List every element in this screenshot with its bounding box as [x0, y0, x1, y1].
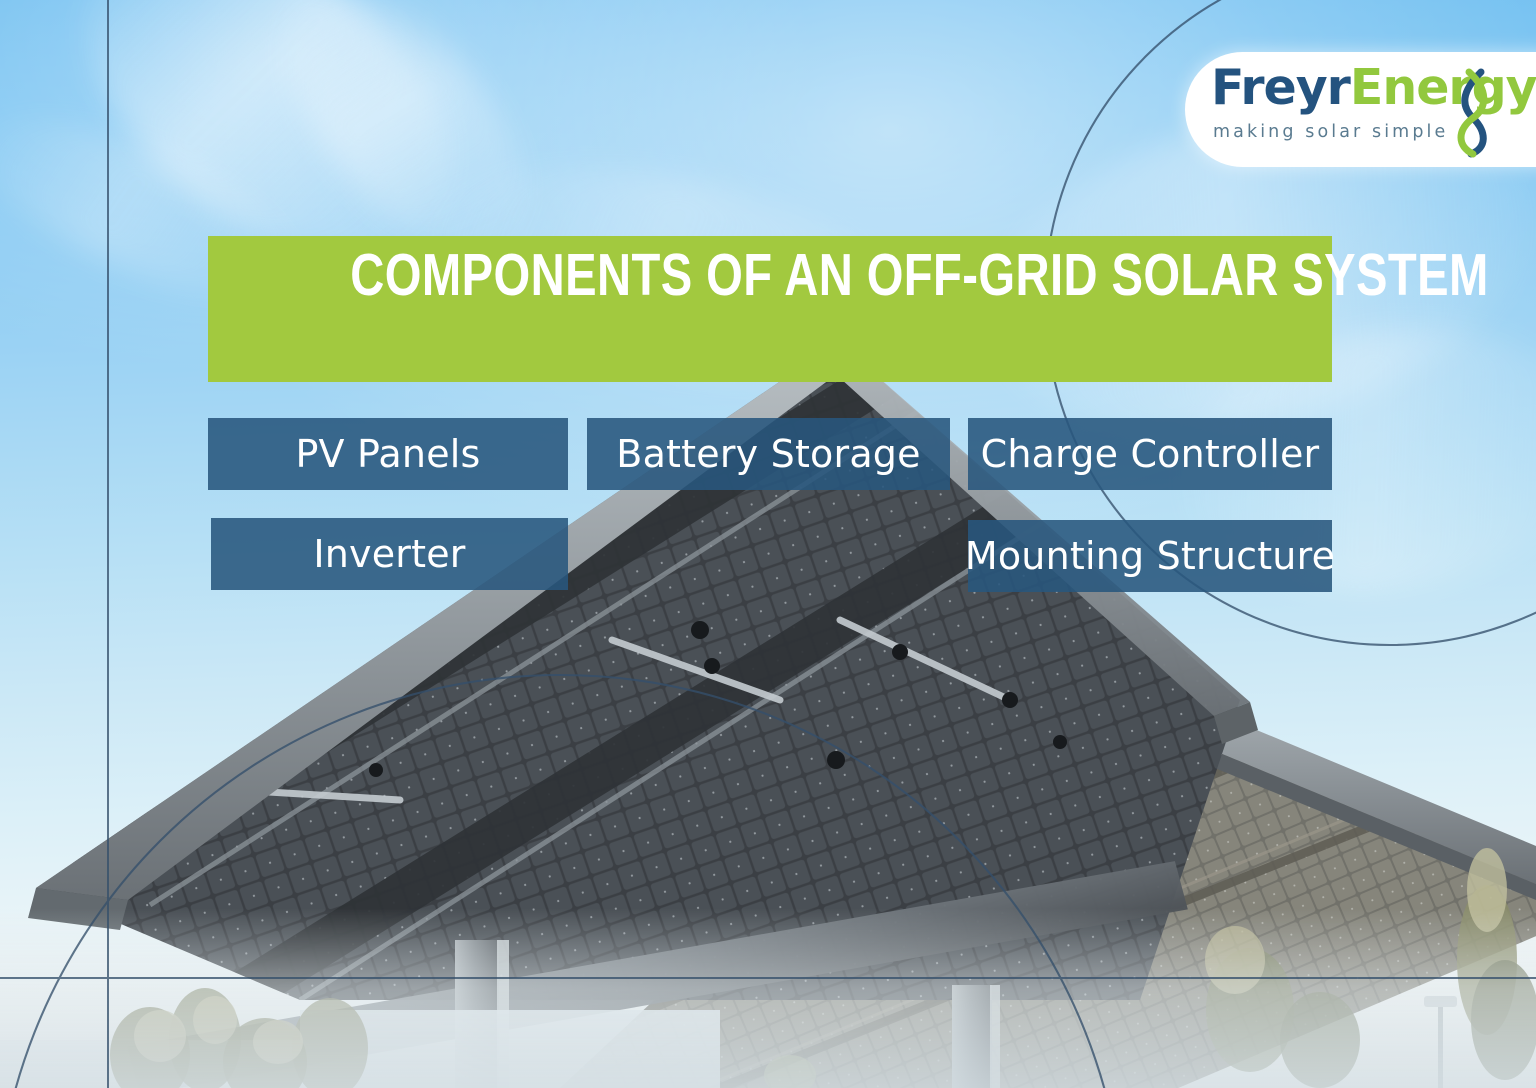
component-box-mounting-structure[interactable]: Mounting Structure: [968, 520, 1332, 592]
page-title-wrap: COMPONENTS OF AN OFF-GRID SOLAR SYSTEM: [208, 275, 1332, 343]
component-box-battery-storage[interactable]: Battery Storage: [587, 418, 950, 490]
infographic-canvas: FreyrEnergy making solar simple COMPONEN…: [0, 0, 1536, 1088]
brand-tagline: making solar simple: [1213, 122, 1448, 142]
page-title: COMPONENTS OF AN OFF-GRID SOLAR SYSTEM: [350, 241, 1488, 309]
logo-text-energy: Energy: [1350, 59, 1536, 116]
title-banner: COMPONENTS OF AN OFF-GRID SOLAR SYSTEM: [208, 236, 1332, 382]
brand-logo-wordmark: FreyrEnergy: [1211, 63, 1536, 112]
component-box-charge-controller[interactable]: Charge Controller: [968, 418, 1332, 490]
component-box-pv-panels[interactable]: PV Panels: [208, 418, 568, 490]
ground-haze: [0, 908, 1536, 1088]
logo-text-freyr: Freyr: [1211, 59, 1350, 116]
component-box-inverter[interactable]: Inverter: [211, 518, 568, 590]
